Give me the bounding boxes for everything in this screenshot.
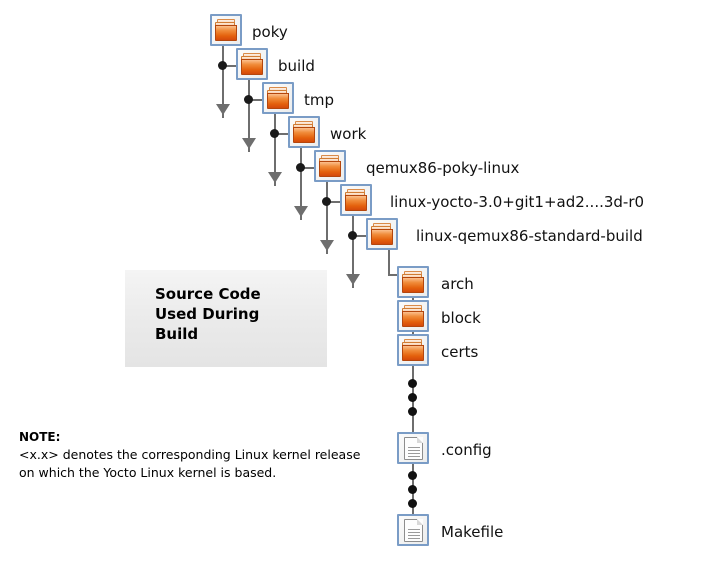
connector-arrow-qemux86 — [320, 240, 334, 251]
node-label-arch: arch — [441, 277, 474, 292]
connector-joint-build — [244, 95, 253, 104]
diagram-canvas: poky build tmp work qemux86-poky-linux l… — [0, 0, 705, 581]
folder-icon — [262, 82, 294, 114]
folder-icon — [314, 150, 346, 182]
node-label-config-file: .config — [441, 443, 492, 458]
node-label-poky: poky — [252, 25, 288, 40]
folder-icon — [210, 14, 242, 46]
connector-arrow-build — [242, 138, 256, 149]
connector-line-certs-config — [412, 366, 414, 438]
ellipsis-dot — [408, 393, 417, 402]
connector-joint-poky — [218, 61, 227, 70]
node-label-certs: certs — [441, 345, 478, 360]
document-icon — [397, 432, 429, 464]
connector-joint-work — [296, 163, 305, 172]
ellipsis-dot — [408, 485, 417, 494]
folder-icon — [397, 266, 429, 298]
folder-icon — [236, 48, 268, 80]
ellipsis-dot — [408, 471, 417, 480]
connector-arrow-poky — [216, 104, 230, 115]
ellipsis-dot — [408, 379, 417, 388]
folder-icon — [397, 300, 429, 332]
folder-icon — [366, 218, 398, 250]
ellipsis-dot — [408, 407, 417, 416]
source-code-callout-text: Source Code Used During Build — [155, 285, 261, 345]
node-label-linux-qemux86-standard-build: linux-qemux86-standard-build — [416, 229, 643, 244]
node-label-makefile: Makefile — [441, 525, 503, 540]
connector-arrow-tmp — [268, 172, 282, 183]
folder-icon — [340, 184, 372, 216]
source-code-callout-box: Source Code Used During Build — [125, 270, 327, 367]
node-label-qemux86-poky-linux: qemux86-poky-linux — [366, 161, 519, 176]
note-body: <x.x> denotes the corresponding Linux ke… — [19, 446, 379, 482]
node-label-build: build — [278, 59, 315, 74]
connector-joint-linuxyocto — [348, 231, 357, 240]
folder-icon — [288, 116, 320, 148]
ellipsis-dot — [408, 499, 417, 508]
folder-icon — [397, 334, 429, 366]
document-icon — [397, 514, 429, 546]
connector-joint-qemux86 — [322, 197, 331, 206]
connector-joint-tmp — [270, 129, 279, 138]
node-label-work: work — [330, 127, 366, 142]
note-title: NOTE: — [19, 430, 379, 444]
node-label-tmp: tmp — [304, 93, 334, 108]
node-label-linux-yocto: linux-yocto-3.0+git1+ad2....3d-r0 — [390, 195, 644, 210]
note-block: NOTE: <x.x> denotes the corresponding Li… — [19, 430, 379, 482]
connector-arrow-linuxyocto — [346, 274, 360, 285]
connector-arrow-work — [294, 206, 308, 217]
node-label-block: block — [441, 311, 481, 326]
